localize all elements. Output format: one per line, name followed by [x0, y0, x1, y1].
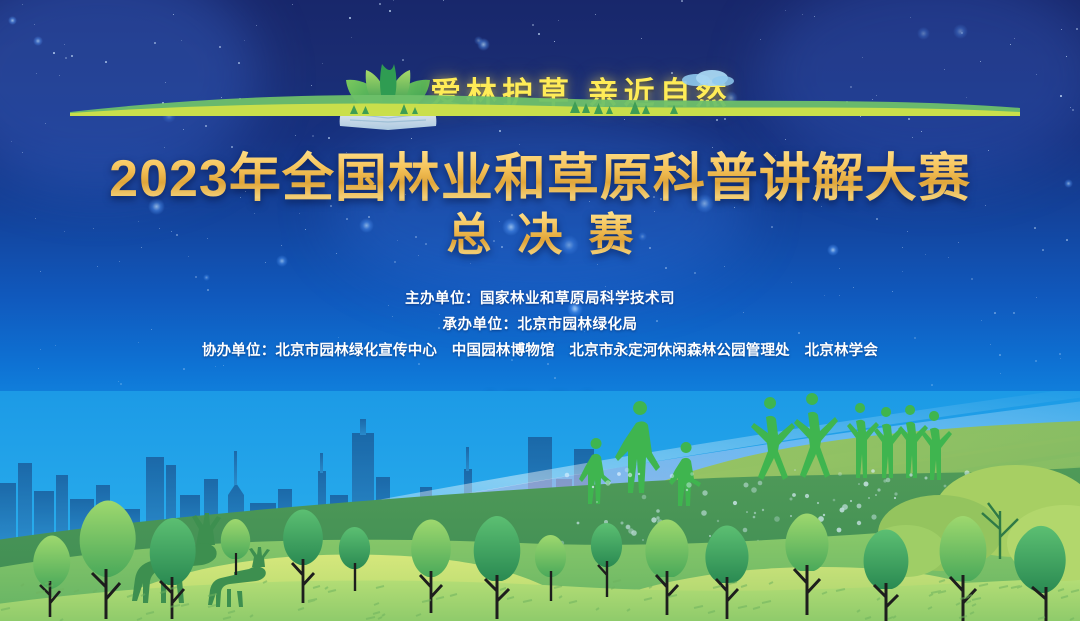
cloud-icon	[678, 66, 736, 86]
organizer-block: 主办单位：国家林业和草原局科学技术司 承办单位：北京市园林绿化局 协办单位：北京…	[0, 286, 1080, 364]
organizer-line: 承办单位：北京市园林绿化局	[0, 312, 1080, 338]
coorganizer-line: 协办单位：北京市园林绿化宣传中心 中国园林博物馆 北京市永定河休闲森林公园管理处…	[0, 338, 1080, 364]
poster-canvas: 爱林护草 亲近自然 2023年全国林业和草原科普讲解大赛 总决赛	[0, 0, 1080, 621]
header-hill-band	[70, 86, 1020, 116]
landscape-illustration	[0, 391, 1080, 621]
page-subtitle: 总决赛	[0, 198, 1080, 263]
host-line: 主办单位：国家林业和草原局科学技术司	[0, 286, 1080, 312]
